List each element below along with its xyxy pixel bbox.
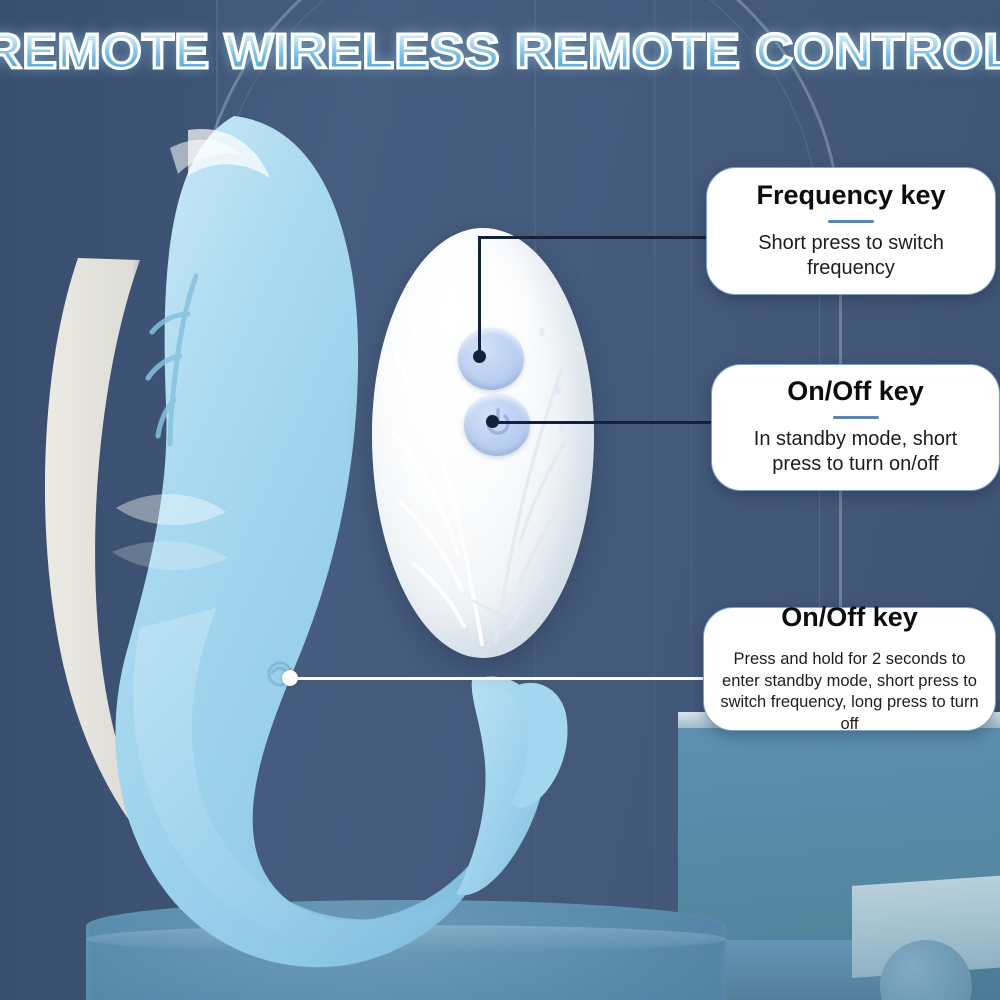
leader-line-3-horizontal bbox=[290, 677, 706, 680]
callout-onoff-key-toy: On/Off key Press and hold for 2 seconds … bbox=[703, 607, 996, 731]
callout-title: Frequency key bbox=[756, 181, 945, 211]
leader-line-1-horizontal bbox=[478, 236, 710, 239]
infographic-canvas: REMOTE WIRELESS REMOTE CONTROL Frequency… bbox=[0, 0, 1000, 1000]
page-title: REMOTE WIRELESS REMOTE CONTROL bbox=[0, 24, 1000, 80]
callout-title: On/Off key bbox=[781, 603, 918, 633]
callout-title: On/Off key bbox=[787, 377, 924, 407]
callout-divider bbox=[833, 416, 879, 419]
callout-frequency-key: Frequency key Short press to switch freq… bbox=[706, 167, 996, 295]
frequency-button[interactable] bbox=[458, 328, 524, 390]
leader-dot-power bbox=[486, 415, 499, 428]
callout-body: Short press to switch frequency bbox=[707, 231, 995, 281]
leader-line-2-horizontal bbox=[492, 421, 712, 424]
leader-dot-toy-button bbox=[282, 670, 298, 686]
callout-onoff-key-remote: On/Off key In standby mode, short press … bbox=[711, 364, 1000, 491]
callout-body: In standby mode, short press to turn on/… bbox=[712, 427, 999, 477]
leader-line-1-vertical bbox=[478, 236, 481, 356]
callout-body: Press and hold for 2 seconds to enter st… bbox=[704, 649, 995, 735]
callout-divider bbox=[828, 220, 874, 223]
leader-dot-frequency bbox=[473, 350, 486, 363]
white-remote bbox=[372, 228, 594, 658]
